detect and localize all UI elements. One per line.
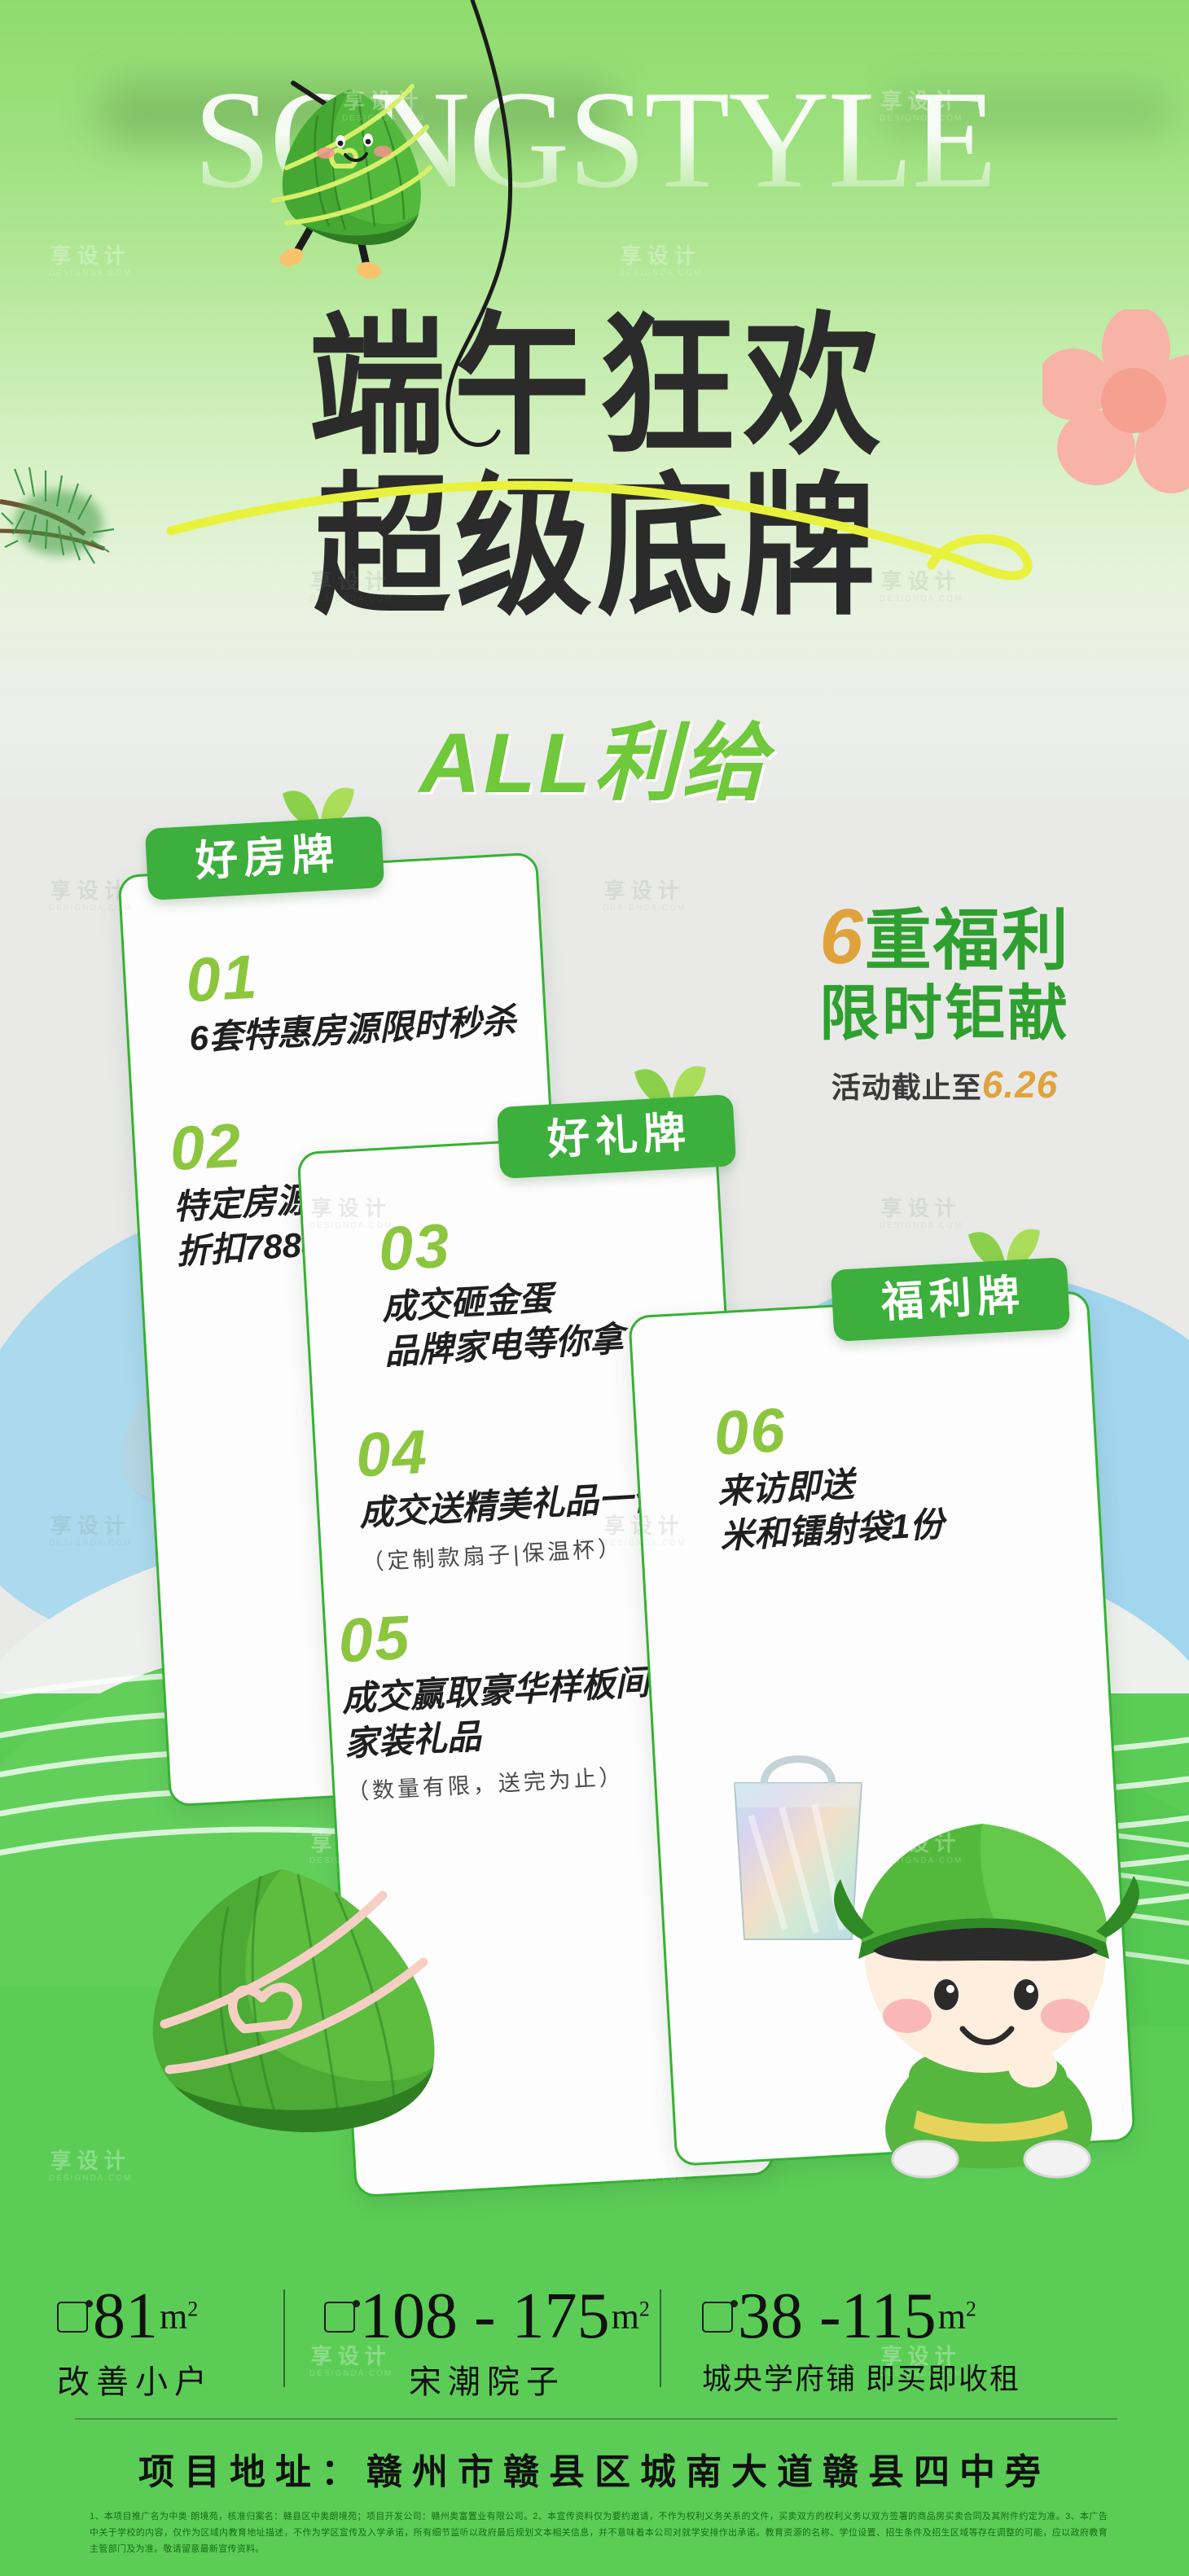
poster-root: SONGSTYLE: [0, 0, 1189, 2576]
divider-line: [75, 2418, 1117, 2420]
headline-line2: 超级底牌: [0, 470, 1189, 626]
offer-number: 03: [377, 1204, 654, 1281]
spec-unit: m2: [612, 2296, 650, 2337]
project-address: 项目地址：赣州市赣县区城南大道赣县四中旁: [0, 2442, 1189, 2495]
card-ribbon-good-house: 好房牌: [145, 816, 384, 900]
welfare-block: 6重福利 限时钜献 活动截止至6.26: [766, 896, 1124, 1106]
spec-unit: m2: [160, 2296, 198, 2337]
offer-item-05: 05 成交赢取豪华样板间 家装礼品 （数量有限，送完为止）: [337, 1594, 656, 1807]
offer-item-04: 04 成交送精美礼品一份 （定制款扇子|保温杯）: [354, 1408, 670, 1576]
headline-line1: 端午狂欢: [0, 309, 1189, 466]
spec-badge-icon: [57, 2302, 88, 2333]
address-label: 项目地址：: [138, 2452, 366, 2492]
spec-label: 宋潮院子: [324, 2355, 650, 2403]
spec-divider-2: [660, 2289, 661, 2387]
offer-item-06: 06 来访即送 米和镭射袋1份: [713, 1391, 945, 1558]
spec-divider-1: [283, 2289, 285, 2387]
spec-size: 108 - 175: [360, 2280, 610, 2354]
spec-size: 81: [93, 2280, 158, 2354]
welfare-line1: 6重福利: [766, 896, 1124, 979]
welfare-deadline-date: 6.26: [982, 1063, 1059, 1106]
offer-number: 05: [337, 1594, 648, 1673]
headline-line3: ALL利给: [0, 694, 1189, 817]
headline-block: 端午狂欢 超级底牌: [0, 318, 1189, 618]
offer-number: 01: [185, 932, 515, 1012]
legal-disclaimer: 1、本项目推广名为中奥·朗境苑，核准归案名：赣县区中奥朗境苑；项目开发公司：赣州…: [90, 2509, 1108, 2557]
specs-row: 81m2 改善小户 108 - 175m2 宋潮院子 38 -115m2 城央学…: [0, 2280, 1189, 2426]
card-ribbon-welfare: 福利牌: [831, 1257, 1070, 1342]
zongzi-mascot-jumping-icon: [244, 70, 456, 282]
spec-item-3: 38 -115m2 城央学府铺 即买即收租: [702, 2280, 1020, 2398]
spec-label: 城央学府铺 即买即收租: [702, 2355, 1020, 2398]
spec-badge-icon: [702, 2302, 733, 2333]
welfare-number: 6: [819, 893, 864, 980]
welfare-deadline: 活动截止至6.26: [766, 1062, 1124, 1106]
spec-unit: m2: [938, 2296, 976, 2337]
zongzi-kid-mascot-icon: [823, 1791, 1148, 2182]
welfare-line2: 限时钜献: [766, 980, 1124, 1048]
welfare-deadline-prefix: 活动截止至: [831, 1071, 982, 1104]
spec-size: 38 -115: [738, 2280, 937, 2354]
english-title: SONGSTYLE: [0, 70, 1189, 210]
offer-item-03: 03 成交砸金蛋 品牌家电等你拿！: [377, 1204, 659, 1375]
spec-item-1: 81m2 改善小户: [57, 2280, 213, 2403]
offer-number: 06: [713, 1391, 940, 1465]
card-ribbon-good-gift: 好礼牌: [497, 1094, 736, 1179]
zongzi-large-icon: [122, 1856, 464, 2166]
spec-item-2: 108 - 175m2 宋潮院子: [324, 2280, 650, 2403]
offer-number: 04: [354, 1408, 665, 1487]
offer-item-01: 01 6套特惠房源限时秒杀: [185, 932, 517, 1062]
spec-badge-icon: [324, 2302, 355, 2333]
address-value: 赣州市赣县区城南大道赣县四中旁: [366, 2452, 1051, 2492]
spec-label: 改善小户: [57, 2355, 213, 2403]
welfare-line1-suffix: 重福利: [865, 904, 1070, 978]
